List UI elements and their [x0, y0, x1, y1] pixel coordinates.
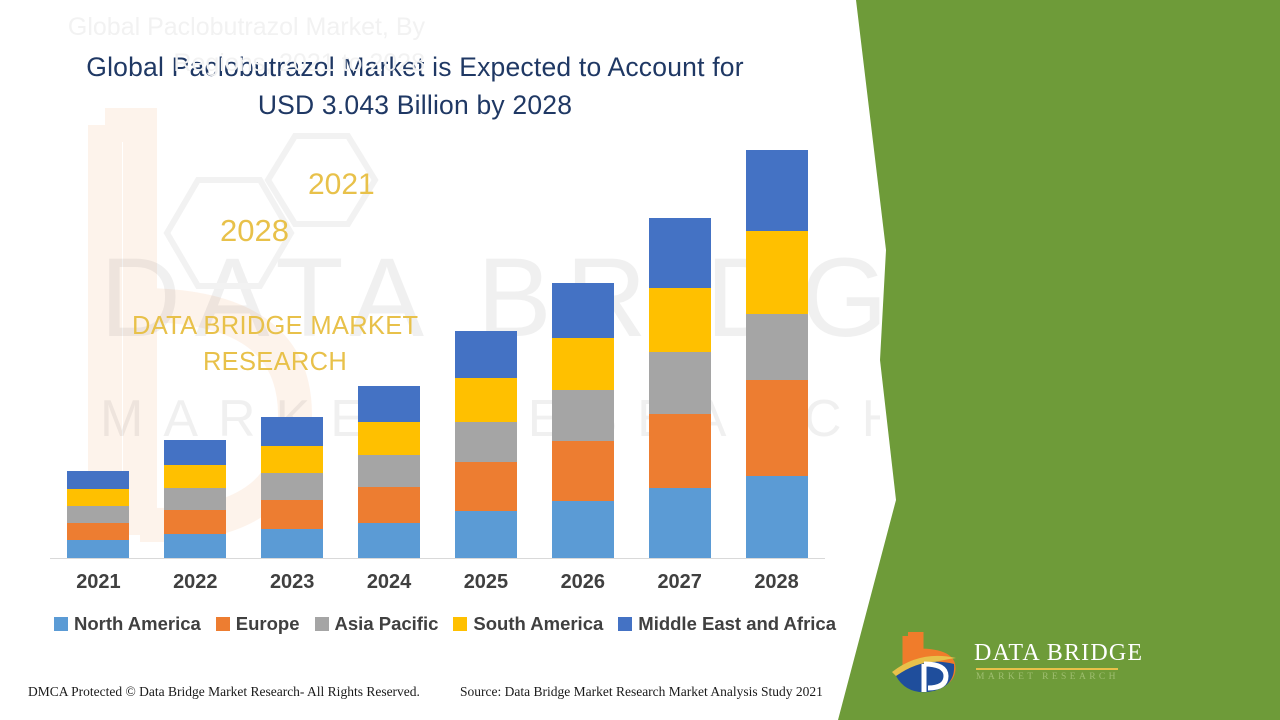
bar-segment: [67, 540, 129, 558]
bar-segment: [455, 462, 517, 510]
legend-swatch-icon: [216, 617, 230, 631]
brand-line-1: DATA BRIDGE MARKET: [132, 312, 418, 340]
legend-label: Asia Pacific: [335, 613, 439, 635]
x-axis-line: [50, 558, 825, 559]
bar-segment: [261, 473, 323, 499]
bar-segment: [261, 529, 323, 558]
bar-column-2024: [358, 386, 420, 558]
bar-segment: [358, 487, 420, 523]
bar-column-2027: [649, 218, 711, 558]
x-axis-labels: 20212022202320242025202620272028: [50, 566, 825, 598]
bar-segment: [358, 422, 420, 455]
copyright-notice: DMCA Protected © Data Bridge Market Rese…: [28, 684, 420, 700]
x-axis-label: 2023: [261, 571, 323, 594]
x-axis-label: 2026: [552, 571, 614, 594]
bar-segment: [164, 465, 226, 488]
x-axis-label: 2021: [67, 571, 129, 594]
logo-subtitle: MARKET RESEARCH: [976, 672, 1119, 682]
bar-segment: [455, 331, 517, 377]
bar-segment: [649, 288, 711, 353]
brand-name: DATA BRIDGE MARKET RESEARCH: [125, 308, 425, 380]
bar-segment: [67, 471, 129, 489]
legend-label: South America: [473, 613, 603, 635]
bar-segment: [67, 489, 129, 507]
x-axis-label: 2024: [358, 571, 420, 594]
bar-column-2028: [746, 150, 808, 558]
legend-label: North America: [74, 613, 201, 635]
bar-segment: [164, 488, 226, 510]
brand-line-2: RESEARCH: [203, 348, 347, 376]
bar-segment: [649, 218, 711, 287]
bar-segment: [261, 417, 323, 446]
bar-segment: [552, 338, 614, 390]
hexagon-badges: 2021 2028: [120, 128, 420, 298]
bar-segment: [746, 380, 808, 476]
x-axis-label: 2022: [164, 571, 226, 594]
legend-item[interactable]: Asia Pacific: [315, 613, 439, 635]
bar-column-2023: [261, 417, 323, 558]
x-axis-label: 2027: [649, 571, 711, 594]
chart-legend: North AmericaEuropeAsia PacificSouth Ame…: [50, 613, 840, 635]
bar-segment: [746, 150, 808, 231]
bar-segment: [552, 501, 614, 558]
legend-item[interactable]: Middle East and Africa: [618, 613, 836, 635]
bar-segment: [649, 414, 711, 488]
bar-segment: [455, 378, 517, 422]
legend-swatch-icon: [618, 617, 632, 631]
side-panel-title: Global Paclobutrazol Market, By Regions,…: [50, 10, 425, 81]
bar-segment: [358, 455, 420, 487]
bar-segment: [261, 500, 323, 530]
data-bridge-logo-icon: [890, 632, 968, 698]
legend-label: Europe: [236, 613, 300, 635]
bar-segment: [552, 283, 614, 338]
bar-segment: [746, 231, 808, 313]
legend-item[interactable]: South America: [453, 613, 603, 635]
bar-segment: [649, 352, 711, 414]
bar-column-2021: [67, 471, 129, 558]
source-notice: Source: Data Bridge Market Research Mark…: [460, 684, 823, 700]
bar-segment: [67, 506, 129, 522]
bar-segment: [455, 511, 517, 558]
bar-column-2022: [164, 440, 226, 558]
legend-swatch-icon: [54, 617, 68, 631]
bar-segment: [67, 523, 129, 541]
bar-column-2026: [552, 283, 614, 558]
bar-segment: [164, 510, 226, 534]
bar-segment: [746, 314, 808, 380]
legend-item[interactable]: Europe: [216, 613, 300, 635]
bar-segment: [552, 441, 614, 500]
side-panel: [838, 0, 1280, 720]
hexagon-2021-label: 2021: [308, 168, 375, 202]
bar-segment: [164, 534, 226, 558]
x-axis-label: 2025: [455, 571, 517, 594]
legend-swatch-icon: [453, 617, 467, 631]
legend-item[interactable]: North America: [54, 613, 201, 635]
bar-segment: [358, 523, 420, 558]
bar-segment: [552, 390, 614, 442]
logo-wordmark: DATA BRIDGE: [974, 640, 1143, 667]
bar-segment: [358, 386, 420, 421]
legend-label: Middle East and Africa: [638, 613, 836, 635]
bar-segment: [746, 476, 808, 558]
hexagon-2028-label: 2028: [220, 213, 289, 249]
bar-segment: [455, 422, 517, 463]
logo-divider: [976, 668, 1118, 670]
legend-swatch-icon: [315, 617, 329, 631]
bar-column-2025: [455, 331, 517, 558]
bar-segment: [164, 440, 226, 464]
bar-segment: [261, 446, 323, 473]
x-axis-label: 2028: [746, 571, 808, 594]
bar-segment: [649, 488, 711, 558]
company-logo: DATA BRIDGE MARKET RESEARCH: [890, 632, 1120, 702]
